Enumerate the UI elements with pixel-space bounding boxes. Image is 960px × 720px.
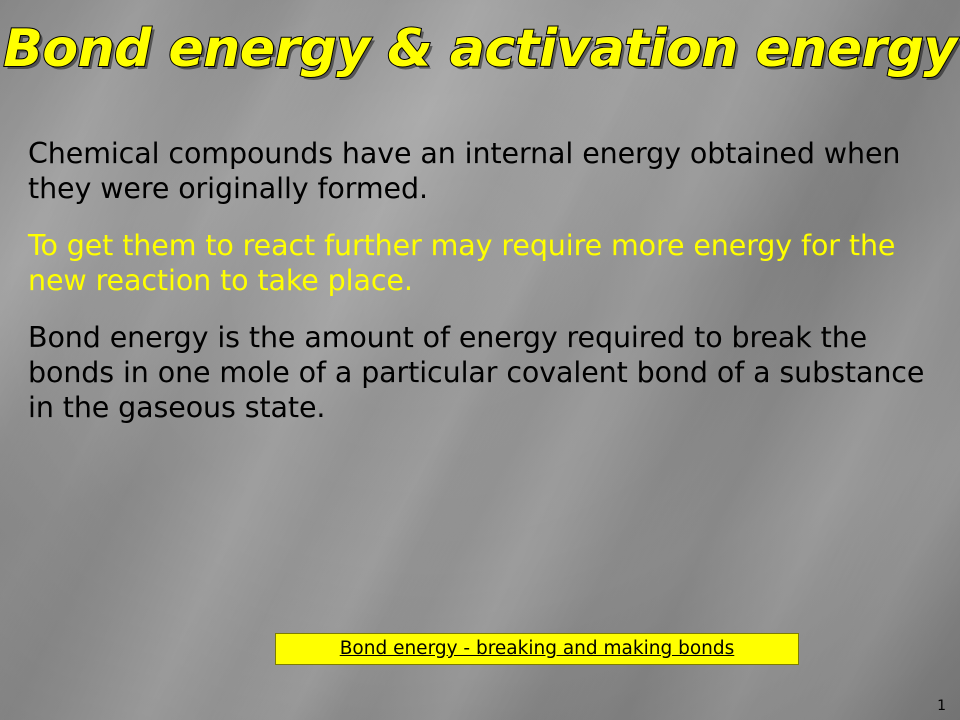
paragraph-highlight: To get them to react further may require… [28,228,936,298]
page-number: 1 [937,698,946,714]
paragraph-intro: Chemical compounds have an internal ener… [28,136,936,206]
paragraph-definition: Bond energy is the amount of energy requ… [28,320,936,425]
bond-energy-link-button[interactable]: Bond energy - breaking and making bonds [275,633,799,665]
bond-energy-link-label[interactable]: Bond energy - breaking and making bonds [276,634,798,664]
slide-body: Chemical compounds have an internal ener… [28,136,936,447]
slide: Bond energy & activation energy Chemical… [0,0,960,720]
page-title: Bond energy & activation energy [0,18,960,80]
